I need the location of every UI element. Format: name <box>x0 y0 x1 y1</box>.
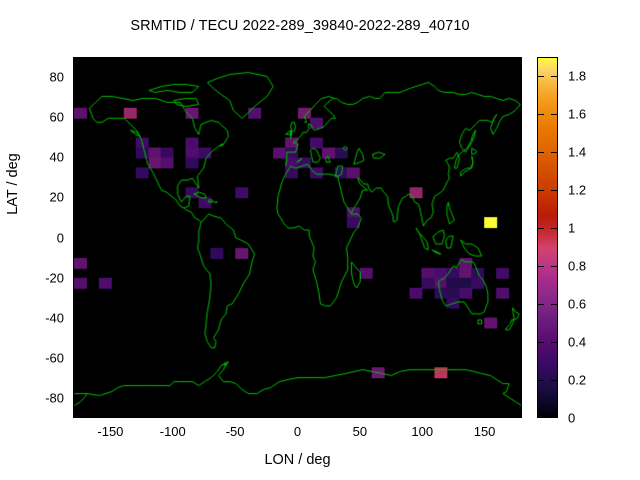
colorbar-gradient <box>537 57 558 418</box>
x-axis-label: LON / deg <box>73 452 522 468</box>
colorbar-tick-label: 0.2 <box>568 373 586 388</box>
y-tick-label: 80 <box>9 70 73 85</box>
colorbar-tick-mark <box>537 152 544 153</box>
colorbar-tick-label: 1.2 <box>568 183 586 198</box>
colorbar-tick-mark <box>537 266 544 267</box>
colorbar-ticks: 1.81.61.41.210.80.60.40.20 <box>558 57 638 418</box>
colorbar-tick-mark <box>537 342 544 343</box>
y-tick-label: -60 <box>9 350 73 365</box>
colorbar-tick-mark <box>551 266 558 267</box>
colorbar-tick-mark <box>551 190 558 191</box>
y-tick-label: -40 <box>9 310 73 325</box>
map-plot-area[interactable] <box>73 57 522 418</box>
colorbar-tick-mark <box>551 76 558 77</box>
heatmap-canvas <box>74 58 521 417</box>
colorbar-tick-mark <box>537 76 544 77</box>
colorbar-tick-mark <box>537 228 544 229</box>
colorbar-tick-label: 0.8 <box>568 259 586 274</box>
colorbar-tick-mark <box>551 228 558 229</box>
x-tick-label: 150 <box>445 424 525 439</box>
colorbar-tick-label: 1.4 <box>568 145 586 160</box>
figure-root: SRMTID / TECU 2022-289_39840-2022-289_40… <box>0 0 640 480</box>
colorbar-tick-label: 0 <box>568 411 575 426</box>
colorbar-tick-label: 0.6 <box>568 297 586 312</box>
colorbar-tick-mark <box>551 304 558 305</box>
colorbar-tick-mark <box>537 190 544 191</box>
x-axis-ticks: -150-100-50050100150 <box>73 424 522 446</box>
colorbar-tick-label: 1.8 <box>568 69 586 84</box>
colorbar-tick-mark <box>537 304 544 305</box>
colorbar-tick-label: 1.6 <box>568 107 586 122</box>
colorbar-tick-label: 0.4 <box>568 335 586 350</box>
y-tick-label: -80 <box>9 390 73 405</box>
y-axis-label: LAT / deg <box>5 114 21 254</box>
colorbar-tick-mark <box>537 114 544 115</box>
colorbar-tick-mark <box>551 380 558 381</box>
y-tick-label: -20 <box>9 270 73 285</box>
colorbar-tick-mark <box>551 152 558 153</box>
colorbar-tick-mark <box>537 380 544 381</box>
colorbar-tick-label: 1 <box>568 221 575 236</box>
page-title: SRMTID / TECU 2022-289_39840-2022-289_40… <box>0 18 600 34</box>
colorbar-tick-mark <box>551 342 558 343</box>
colorbar-tick-mark <box>551 114 558 115</box>
